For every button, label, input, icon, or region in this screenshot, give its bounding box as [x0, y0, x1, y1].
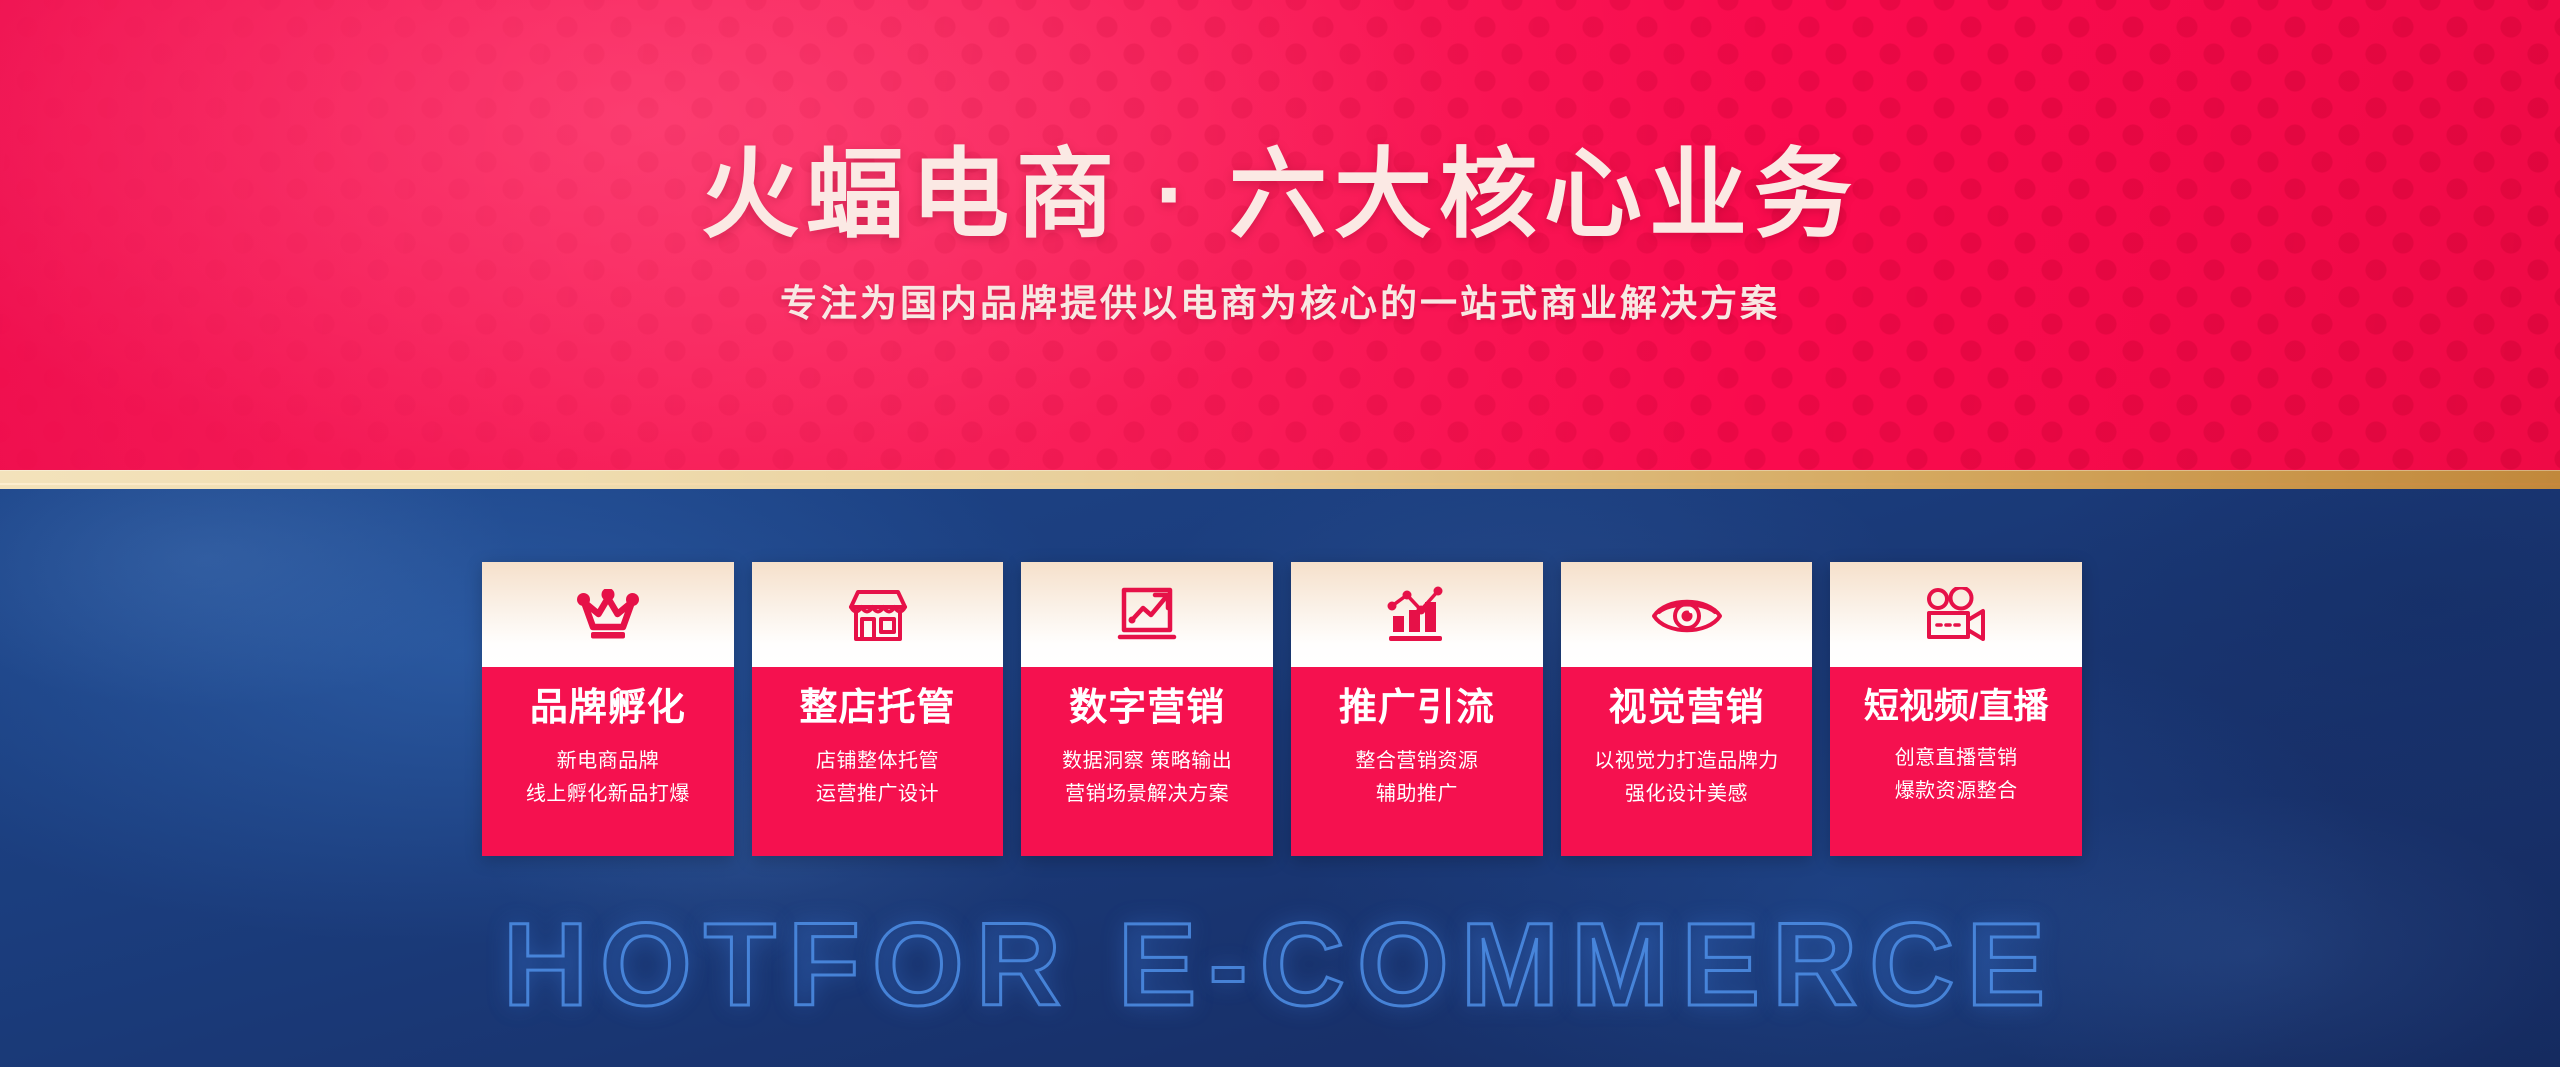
gold-divider [0, 470, 2560, 489]
card-description: 新电商品牌 线上孵化新品打爆 [526, 745, 690, 811]
card-description: 以视觉力打造品牌力 强化设计美感 [1594, 745, 1779, 811]
card-desc-line-2: 辅助推广 [1355, 778, 1478, 811]
card-description: 数据洞察 策略输出 营销场景解决方案 [1062, 745, 1232, 811]
card-body: 数字营销 数据洞察 策略输出 营销场景解决方案 [1021, 667, 1273, 856]
trend-chart-icon [1116, 586, 1178, 644]
card-body: 短视频/直播 创意直播营销 爆款资源整合 [1830, 667, 2082, 856]
service-card-store-hosting[interactable]: 整店托管 店铺整体托管 运营推广设计 [752, 562, 1004, 856]
card-body: 整店托管 店铺整体托管 运营推广设计 [752, 667, 1004, 856]
card-title: 数字营销 [1069, 689, 1225, 729]
service-card-short-video-live[interactable]: 短视频/直播 创意直播营销 爆款资源整合 [1830, 562, 2082, 856]
card-icon-area [1021, 562, 1273, 667]
eye-icon [1650, 590, 1724, 640]
page-title: 火蝠电商 · 六大核心业务 [701, 143, 1859, 247]
card-title: 视觉营销 [1609, 689, 1765, 729]
card-body: 推广引流 整合营销资源 辅助推广 [1291, 667, 1543, 856]
service-card-visual-marketing[interactable]: 视觉营销 以视觉力打造品牌力 强化设计美感 [1561, 562, 1813, 856]
card-desc-line-2: 爆款资源整合 [1895, 775, 2018, 808]
service-card-traffic-promotion[interactable]: 推广引流 整合营销资源 辅助推广 [1291, 562, 1543, 856]
crown-icon [577, 589, 639, 641]
card-description: 整合营销资源 辅助推广 [1355, 745, 1478, 811]
hero-banner: 火蝠电商 · 六大核心业务 专注为国内品牌提供以电商为核心的一站式商业解决方案 [0, 0, 2560, 470]
card-desc-line-1: 以视觉力打造品牌力 [1594, 745, 1779, 778]
card-desc-line-1: 整合营销资源 [1355, 745, 1478, 778]
brand-wordmark-outline: HOTFOR E-COMMERCE [0, 897, 2560, 1033]
service-card-list: 品牌孵化 新电商品牌 线上孵化新品打爆 [482, 562, 2082, 856]
page-subtitle: 专注为国内品牌提供以电商为核心的一站式商业解决方案 [780, 273, 1780, 327]
card-title: 整店托管 [800, 689, 956, 729]
card-desc-line-2: 线上孵化新品打爆 [526, 778, 690, 811]
card-description: 店铺整体托管 运营推广设计 [816, 745, 939, 811]
card-title: 短视频/直播 [1864, 689, 2049, 726]
video-camera-icon [1924, 587, 1988, 643]
card-icon-area [482, 562, 734, 667]
storefront-icon [848, 587, 908, 643]
card-title: 推广引流 [1339, 689, 1495, 729]
card-desc-line-1: 数据洞察 策略输出 [1062, 745, 1232, 778]
card-description: 创意直播营销 爆款资源整合 [1895, 742, 2018, 808]
card-icon-area [1291, 562, 1543, 667]
card-desc-line-1: 店铺整体托管 [816, 745, 939, 778]
bar-chart-line-icon [1387, 586, 1447, 644]
card-body: 品牌孵化 新电商品牌 线上孵化新品打爆 [482, 667, 734, 856]
service-card-digital-marketing[interactable]: 数字营销 数据洞察 策略输出 营销场景解决方案 [1021, 562, 1273, 856]
card-title: 品牌孵化 [530, 689, 686, 729]
card-desc-line-2: 运营推广设计 [816, 778, 939, 811]
card-icon-area [752, 562, 1004, 667]
card-desc-line-2: 强化设计美感 [1594, 778, 1779, 811]
card-icon-area [1561, 562, 1813, 667]
gold-divider-highlight [0, 483, 2560, 485]
services-section: 品牌孵化 新电商品牌 线上孵化新品打爆 [0, 489, 2560, 1067]
card-icon-area [1830, 562, 2082, 667]
card-desc-line-2: 营销场景解决方案 [1062, 778, 1232, 811]
card-body: 视觉营销 以视觉力打造品牌力 强化设计美感 [1561, 667, 1813, 856]
service-card-brand-incubation[interactable]: 品牌孵化 新电商品牌 线上孵化新品打爆 [482, 562, 734, 856]
card-desc-line-1: 新电商品牌 [526, 745, 690, 778]
card-desc-line-1: 创意直播营销 [1895, 742, 2018, 775]
